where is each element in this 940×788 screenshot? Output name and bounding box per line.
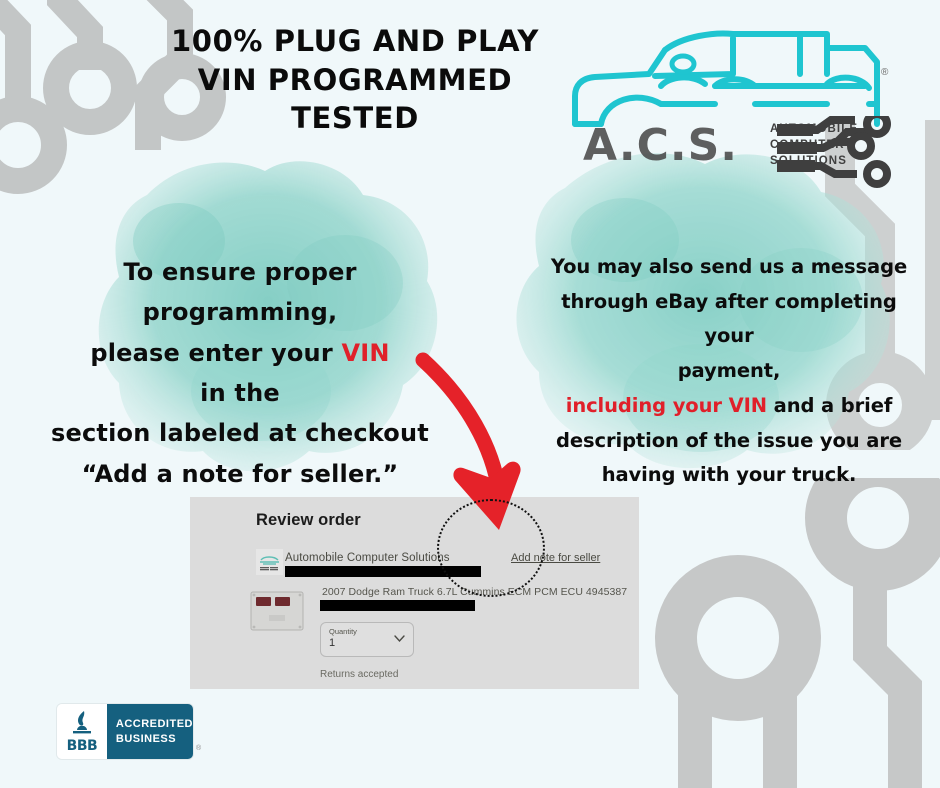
bbb-accredited-business-badge[interactable]: BBB ACCREDITED BUSINESS: [57, 704, 193, 759]
left-line-6: “Add a note for seller.”: [24, 454, 456, 494]
right-line-3: payment,: [540, 354, 918, 389]
right-vin-highlight: including your VIN: [566, 394, 767, 417]
poster-canvas: 100% PLUG AND PLAY VIN PROGRAMMED TESTED: [0, 0, 940, 788]
right-line-6: having with your truck.: [540, 458, 918, 493]
right-line-4: including your VIN and a brief: [540, 389, 918, 424]
logo-circuit-icon: [777, 116, 902, 188]
left-line-5: section labeled at checkout: [24, 413, 456, 453]
left-vin-highlight: VIN: [341, 339, 389, 367]
logo-acs-text: A.C.S.: [583, 120, 738, 171]
returns-accepted-text: Returns accepted: [320, 669, 398, 680]
left-line-3: please enter your VIN: [24, 333, 456, 373]
right-instruction-text: You may also send us a message through e…: [540, 250, 918, 493]
bbb-line-accredited: ACCREDITED: [116, 717, 193, 731]
acs-logo: ® A.C.S. AUTOMOBILE COMPUTER SOLUTIONS: [565, 28, 910, 168]
registered-mark-logo: ®: [881, 67, 888, 78]
seller-name: Automobile Computer Solutions: [285, 552, 450, 564]
bbb-text-panel: ACCREDITED BUSINESS: [107, 704, 193, 759]
product-thumbnail-ecm[interactable]: [247, 589, 307, 633]
bbb-registered-mark: ®: [196, 745, 201, 752]
quantity-label: Quantity: [329, 627, 357, 636]
left-instruction-text: To ensure proper programming, please ent…: [24, 252, 456, 494]
headline: 100% PLUG AND PLAY VIN PROGRAMMED TESTED: [105, 22, 605, 138]
left-line-3-pre: please enter your: [90, 339, 341, 367]
bbb-line-business: BUSINESS: [116, 732, 193, 746]
right-line-4-rest: and a brief: [767, 394, 892, 417]
headline-line-3: TESTED: [105, 99, 605, 138]
bbb-acronym: BBB: [67, 738, 98, 754]
bbb-torch-icon: [69, 709, 95, 737]
headline-line-2: VIN PROGRAMMED: [105, 61, 605, 100]
circuit-trace-bottom-right: [620, 478, 940, 788]
right-line-5: description of the issue you are: [540, 424, 918, 459]
dotted-highlight-circle: [437, 499, 545, 597]
left-line-2: programming,: [24, 292, 456, 332]
right-line-2: through eBay after completing your: [540, 285, 918, 354]
quantity-value: 1: [329, 637, 335, 649]
bbb-logo-panel: BBB: [57, 704, 107, 759]
left-line-4: in the: [24, 373, 456, 413]
seller-avatar-icon: [256, 549, 283, 575]
redaction-bar-price: [320, 600, 475, 611]
chevron-down-icon: [394, 635, 405, 643]
checkout-screenshot-panel: Review order Automobile Computer Solutio…: [190, 497, 639, 689]
review-order-title: Review order: [256, 511, 361, 530]
right-line-1: You may also send us a message: [540, 250, 918, 285]
headline-line-1: 100% PLUG AND PLAY: [105, 22, 605, 61]
quantity-select[interactable]: Quantity 1: [320, 622, 414, 657]
left-line-1: To ensure proper: [24, 252, 456, 292]
